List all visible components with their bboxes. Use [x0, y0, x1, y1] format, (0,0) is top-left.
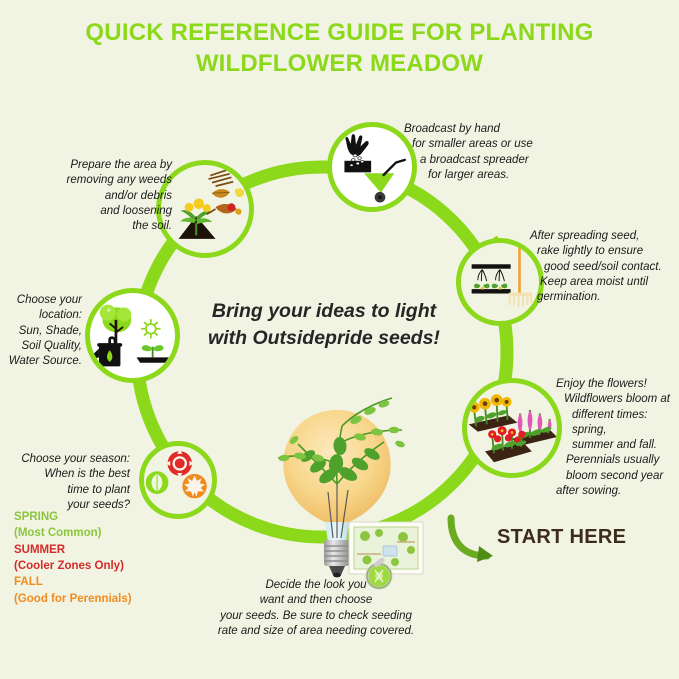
- season-badges-icon: [144, 446, 212, 514]
- step-node-season[interactable]: [139, 441, 217, 519]
- callout-rake: After spreading seed, rake lightly to en…: [530, 229, 679, 305]
- callout-location: Choose your location: Sun, Shade, Soil Q…: [2, 293, 82, 369]
- callout-broadcast: Broadcast by hand for smaller areas or u…: [404, 122, 582, 183]
- tagline-line-2: with Outsidepride seeds!: [190, 325, 458, 352]
- callout-season: Choose your season: When is the best tim…: [8, 452, 130, 513]
- legend-summer-note: (Cooler Zones Only): [14, 558, 194, 574]
- step-node-location[interactable]: [85, 288, 180, 383]
- callout-enjoy: Enjoy the flowers! Wildflowers bloom at …: [556, 377, 679, 499]
- step-node-enjoy[interactable]: [462, 378, 562, 478]
- callout-prepare: Prepare the area by removing any weeds a…: [40, 158, 172, 234]
- tagline: Bring your ideas to light with Outsidepr…: [190, 298, 458, 352]
- legend-summer-label: SUMMER: [14, 542, 194, 558]
- weeds-debris-icon: [161, 165, 249, 253]
- tree-wateringcan-sun-icon: [90, 293, 175, 378]
- season-legend: SPRING (Most Common) SUMMER (Cooler Zone…: [14, 509, 194, 607]
- legend-spring-note: (Most Common): [14, 525, 194, 541]
- rake-watering-icon: [461, 243, 539, 321]
- tagline-line-1: Bring your ideas to light: [190, 298, 458, 325]
- start-here-arrow-icon: [447, 512, 499, 564]
- hand-seeding-spreader-icon: [332, 127, 412, 207]
- callout-decide: Decide the look you want and then choose…: [190, 578, 442, 639]
- flower-beds-icon: [467, 383, 557, 473]
- legend-fall-label: FALL: [14, 574, 194, 590]
- legend-spring-label: SPRING: [14, 509, 194, 525]
- start-here-label: START HERE: [497, 526, 626, 549]
- infographic-canvas: QUICK REFERENCE GUIDE FOR PLANTING WILDF…: [0, 0, 679, 679]
- legend-fall-note: (Good for Perennials): [14, 591, 194, 607]
